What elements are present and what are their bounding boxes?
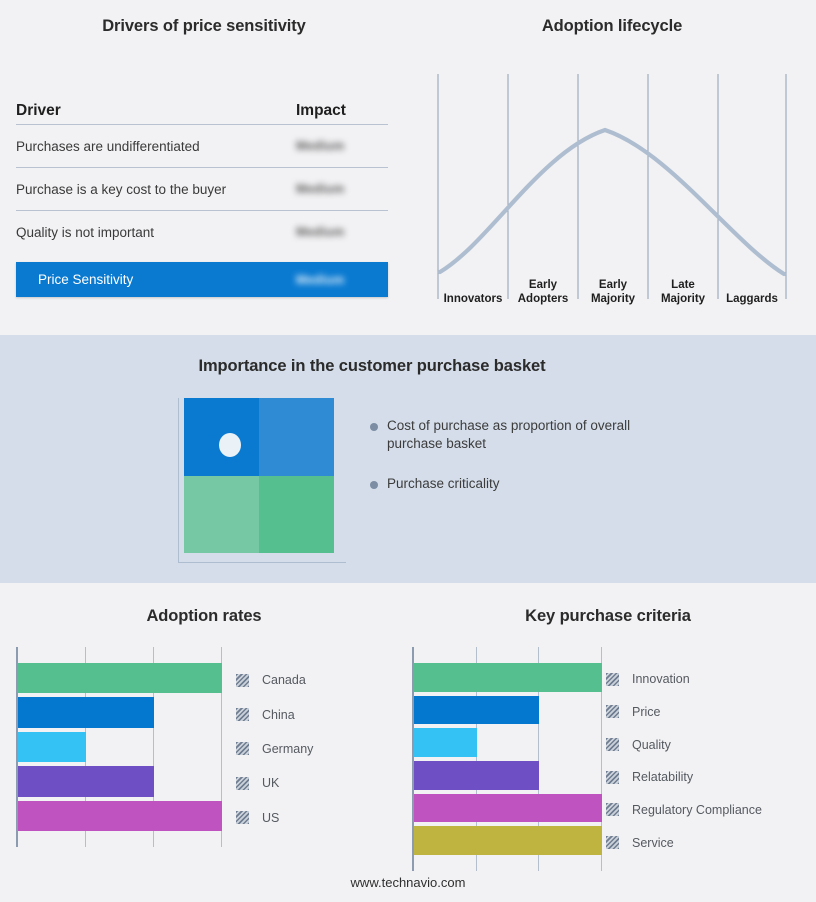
legend-item: Relatability — [606, 761, 811, 794]
basket-panel-title: Importance in the customer purchase bask… — [0, 357, 744, 376]
table-row: Purchases are undifferentiated Medium — [16, 125, 388, 168]
legend-item-label: Canada — [262, 673, 306, 687]
legend-bullet-icon — [370, 423, 378, 431]
legend-item: UK — [236, 766, 396, 800]
segment-dividers — [438, 74, 786, 299]
legend-item: Cost of purchase as proportion of overal… — [370, 417, 690, 453]
legend-item: Regulatory Compliance — [606, 794, 811, 827]
legend-item: Quality — [606, 728, 811, 761]
key-purchase-criteria-plot — [412, 647, 602, 871]
top-section: Drivers of price sensitivity Driver Impa… — [0, 0, 816, 335]
legend-swatch-icon — [606, 803, 619, 816]
key-purchase-criteria-legend: InnovationPriceQualityRelatabilityRegula… — [606, 647, 811, 859]
driver-label: Purchase is a key cost to the buyer — [16, 182, 296, 197]
lifecycle-label-line1: Laggards — [718, 293, 786, 307]
legend-item-label: China — [262, 708, 295, 722]
chart-bar — [18, 801, 222, 831]
legend-swatch-icon — [606, 705, 619, 718]
chart-bar — [414, 663, 602, 692]
quadrant-x-axis — [178, 562, 346, 563]
chart-bar — [18, 697, 154, 727]
legend-swatch-icon — [606, 836, 619, 849]
chart-bar — [414, 826, 602, 855]
legend-item: Purchase criticality — [370, 475, 690, 493]
legend-item-label: Service — [632, 836, 674, 850]
legend-item: Price — [606, 696, 811, 729]
impact-value: Medium — [296, 223, 388, 241]
bottom-section: Adoption rates CanadaChinaGermanyUKUS Ke… — [0, 583, 816, 902]
lifecycle-label-early-majority: Early Majority — [578, 279, 648, 306]
summary-impact-value: Medium — [296, 271, 388, 289]
chart-bar — [18, 732, 86, 762]
purchase-basket-section: Importance in the customer purchase bask… — [0, 335, 816, 583]
legend-item: Service — [606, 826, 811, 859]
legend-item: Canada — [236, 663, 396, 697]
legend-item-label: Quality — [632, 738, 671, 752]
drivers-of-price-sensitivity-panel: Drivers of price sensitivity Driver Impa… — [0, 0, 408, 335]
table-row: Quality is not important Medium — [16, 211, 388, 253]
legend-item-label: US — [262, 811, 279, 825]
legend-item: US — [236, 801, 396, 835]
chart-bar — [414, 696, 539, 725]
key-purchase-criteria-panel: Key purchase criteria InnovationPriceQua… — [400, 583, 816, 902]
adoption-rates-title: Adoption rates — [0, 607, 408, 626]
legend-swatch-icon — [606, 673, 619, 686]
basket-legend: Cost of purchase as proportion of overal… — [370, 417, 690, 515]
chart-bar — [414, 761, 539, 790]
chart-bar — [414, 728, 477, 757]
lifecycle-label-line1: Early — [578, 279, 648, 293]
price-sensitivity-summary-row: Price Sensitivity Medium — [16, 262, 388, 297]
quadrant-position-marker — [219, 433, 241, 457]
legend-item-label: Germany — [262, 742, 313, 756]
legend-swatch-icon — [236, 811, 249, 824]
drivers-table: Driver Impact Purchases are undifferenti… — [16, 90, 388, 297]
legend-item-label: UK — [262, 776, 279, 790]
legend-item-label: Relatability — [632, 770, 693, 784]
adoption-rates-plot — [16, 647, 222, 847]
legend-item: Innovation — [606, 663, 811, 696]
impact-value: Medium — [296, 137, 388, 155]
legend-swatch-icon — [606, 738, 619, 751]
chart-bar — [18, 766, 154, 796]
bell-curve-path — [440, 130, 784, 274]
adoption-rates-legend: CanadaChinaGermanyUKUS — [236, 647, 396, 835]
lifecycle-label-early-adopters: Early Adopters — [508, 279, 578, 306]
legend-item: Germany — [236, 732, 396, 766]
driver-label: Purchases are undifferentiated — [16, 139, 296, 154]
legend-swatch-icon — [236, 674, 249, 687]
table-row: Purchase is a key cost to the buyer Medi… — [16, 168, 388, 211]
legend-item: China — [236, 697, 396, 731]
summary-label: Price Sensitivity — [16, 272, 296, 287]
quadrant-cell-bottom-left — [184, 476, 259, 554]
lifecycle-label-late-majority: Late Majority — [648, 279, 718, 306]
adoption-lifecycle-chart: Innovators Early Adopters Early Majority… — [430, 62, 794, 312]
lifecycle-label-laggards: Laggards — [718, 293, 786, 307]
column-header-impact: Impact — [296, 102, 388, 120]
lifecycle-label-line1: Early — [508, 279, 578, 293]
lifecycle-curve-svg — [430, 62, 794, 312]
adoption-lifecycle-panel: Adoption lifecycle Innovators Early Adop… — [408, 0, 816, 335]
chart-bar — [414, 794, 602, 823]
lifecycle-label-line2: Adopters — [508, 293, 578, 307]
legend-item-label: Price — [632, 705, 660, 719]
legend-item-label: Regulatory Compliance — [632, 803, 762, 817]
lifecycle-label-line1: Innovators — [438, 293, 508, 307]
drivers-panel-title: Drivers of price sensitivity — [0, 17, 408, 36]
quadrant-cell-top-right — [259, 398, 334, 476]
legend-swatch-icon — [236, 742, 249, 755]
lifecycle-panel-title: Adoption lifecycle — [408, 17, 816, 36]
column-header-driver: Driver — [16, 102, 296, 120]
lifecycle-label-line2: Majority — [578, 293, 648, 307]
footer-url: www.technavio.com — [0, 875, 816, 890]
impact-value: Medium — [296, 180, 388, 198]
legend-swatch-icon — [236, 777, 249, 790]
driver-label: Quality is not important — [16, 225, 296, 240]
legend-bullet-icon — [370, 481, 378, 489]
quadrant-cell-top-left — [184, 398, 259, 476]
chart-bar — [18, 663, 222, 693]
legend-item-label: Innovation — [632, 672, 690, 686]
lifecycle-label-line1: Late — [648, 279, 718, 293]
legend-swatch-icon — [606, 771, 619, 784]
quadrant-grid — [184, 398, 334, 553]
quadrant-y-axis — [178, 398, 179, 563]
table-header-row: Driver Impact — [16, 90, 388, 125]
quadrant-cell-bottom-right — [259, 476, 334, 554]
adoption-rates-panel: Adoption rates CanadaChinaGermanyUKUS — [0, 583, 408, 902]
lifecycle-label-line2: Majority — [648, 293, 718, 307]
key-purchase-criteria-title: Key purchase criteria — [400, 607, 816, 626]
legend-swatch-icon — [236, 708, 249, 721]
lifecycle-label-innovators: Innovators — [438, 293, 508, 307]
legend-item-label: Cost of purchase as proportion of overal… — [387, 417, 647, 453]
legend-item-label: Purchase criticality — [387, 475, 500, 493]
quadrant-chart — [178, 398, 346, 563]
